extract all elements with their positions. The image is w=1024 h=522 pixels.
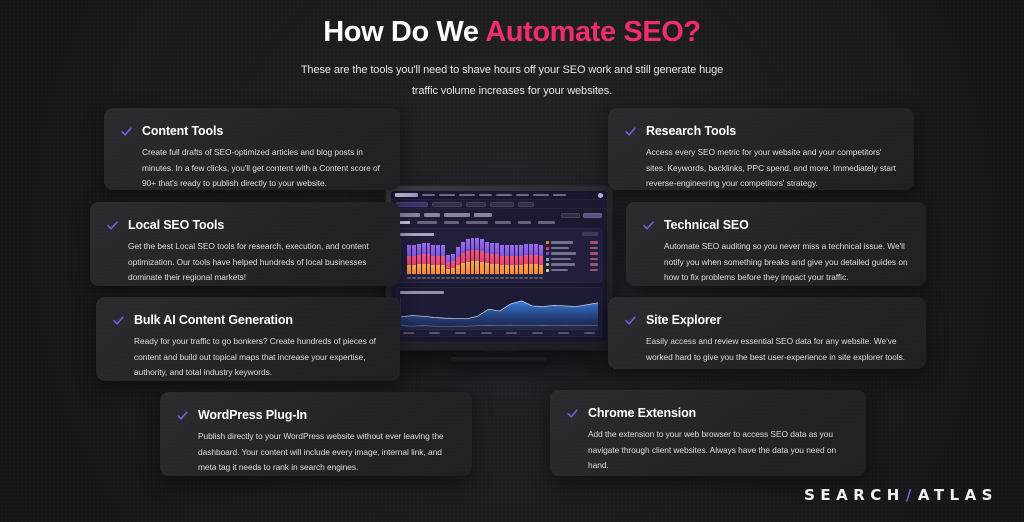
bar-segment-pink xyxy=(519,256,523,266)
bar-segment-orange xyxy=(461,263,465,274)
dashboard-nav-item[interactable] xyxy=(439,194,455,197)
bar-segment-purple xyxy=(500,245,504,256)
bar-column xyxy=(417,244,421,274)
bar-column xyxy=(427,243,431,274)
bar-segment-orange xyxy=(471,261,475,274)
bar-segment-pink xyxy=(412,256,416,266)
feature-card-research-tools: Research Tools Access every SEO metric f… xyxy=(608,108,914,190)
bar-segment-orange xyxy=(519,265,523,274)
bar-segment-orange xyxy=(417,264,421,274)
bar-x-tick xyxy=(446,277,450,279)
bar-column xyxy=(524,244,528,274)
bar-segment-pink xyxy=(500,256,504,266)
bar-column xyxy=(480,239,484,274)
chart-legend xyxy=(546,239,598,279)
dashboard-nav-item[interactable] xyxy=(422,194,435,197)
dashboard-body xyxy=(391,209,607,341)
check-icon xyxy=(176,409,189,422)
bar-x-tick xyxy=(412,277,416,279)
page-subtitle: These are the tools you'll need to shave… xyxy=(287,60,737,101)
dashboard-logo xyxy=(395,193,418,197)
bar-segment-orange xyxy=(490,264,494,274)
dashboard-tab[interactable] xyxy=(444,221,459,224)
bar-segment-purple xyxy=(539,245,543,256)
chart-legend-toggle[interactable] xyxy=(582,232,598,236)
bar-x-tick xyxy=(490,277,494,279)
bar-column xyxy=(407,245,411,274)
bar-segment-pink xyxy=(490,254,494,265)
legend-label xyxy=(551,258,571,261)
bar-column xyxy=(451,254,455,274)
bar-segment-pink xyxy=(407,256,411,266)
legend-value xyxy=(590,263,598,266)
dashboard-screen xyxy=(391,191,607,341)
bar-x-tick xyxy=(515,277,519,279)
legend-value xyxy=(590,252,598,255)
bar-segment-purple xyxy=(510,245,514,256)
bar-segment-orange xyxy=(529,264,533,274)
bar-segment-purple xyxy=(436,245,440,256)
feature-card-content-tools: Content Tools Create full drafts of SEO-… xyxy=(104,108,400,190)
bar-chart-x-axis xyxy=(400,277,543,279)
monitor-base xyxy=(451,357,547,362)
dashboard-tab[interactable] xyxy=(466,221,488,224)
legend-label xyxy=(551,263,575,266)
legend-label xyxy=(551,247,569,250)
bar-segment-pink xyxy=(534,255,538,265)
legend-value xyxy=(590,247,598,250)
bar-segment-pink xyxy=(529,255,533,265)
dashboard-filter-bar xyxy=(391,200,607,209)
bar-column xyxy=(422,243,426,274)
bar-segment-orange xyxy=(510,265,514,274)
bar-segment-orange xyxy=(505,265,509,274)
legend-swatch xyxy=(546,247,549,250)
bar-segment-orange xyxy=(431,265,435,274)
bar-segment-purple xyxy=(407,245,411,256)
bar-segment-purple xyxy=(519,245,523,256)
bar-segment-pink xyxy=(431,256,435,266)
feature-card-bulk-ai-content-generation: Bulk AI Content Generation Ready for you… xyxy=(96,297,400,381)
dashboard-metric-chips xyxy=(396,213,602,218)
bar-segment-purple xyxy=(515,245,519,256)
bar-segment-purple xyxy=(417,244,421,255)
bar-x-tick xyxy=(495,277,499,279)
dashboard-tab[interactable] xyxy=(538,221,555,224)
legend-label xyxy=(551,269,568,272)
bar-segment-pink xyxy=(427,254,431,265)
bar-segment-purple xyxy=(480,239,484,251)
bar-segment-purple xyxy=(466,239,470,251)
dashboard-project-selector[interactable] xyxy=(396,202,428,207)
bar-segment-pink xyxy=(524,255,528,265)
feature-card-title: WordPress Plug-In xyxy=(198,408,307,422)
dashboard-apply-button[interactable] xyxy=(518,202,534,207)
feature-card-chrome-extension: Chrome Extension Add the extension to yo… xyxy=(550,390,866,476)
check-icon xyxy=(120,125,133,138)
bar-segment-pink xyxy=(456,257,460,266)
check-icon xyxy=(112,314,125,327)
bar-column xyxy=(500,245,504,274)
bar-segment-pink xyxy=(441,256,445,266)
feature-card-local-seo-tools: Local SEO Tools Get the best Local SEO t… xyxy=(90,202,400,286)
dashboard-nav-item[interactable] xyxy=(496,194,512,197)
bar-chart xyxy=(400,239,543,279)
bar-column xyxy=(436,245,440,274)
dashboard-nav-item[interactable] xyxy=(459,194,475,197)
bar-segment-purple xyxy=(495,243,499,254)
dashboard-export-button[interactable] xyxy=(561,213,580,218)
bar-x-tick xyxy=(500,277,504,279)
area-chart xyxy=(400,297,598,330)
monitor-device xyxy=(386,186,612,374)
check-icon xyxy=(106,219,119,232)
dashboard-tab[interactable] xyxy=(417,221,437,224)
bar-segment-orange xyxy=(446,269,450,274)
dashboard-primary-button[interactable] xyxy=(583,213,602,218)
chart-panel-header xyxy=(400,232,598,236)
bar-x-tick xyxy=(451,277,455,279)
bar-segment-orange xyxy=(436,265,440,274)
bar-segment-pink xyxy=(515,256,519,266)
bar-column xyxy=(485,242,489,274)
dashboard-avatar[interactable] xyxy=(598,193,603,198)
brand-slash: / xyxy=(905,486,918,504)
area-fill xyxy=(401,301,598,329)
legend-value xyxy=(590,258,598,261)
area-chart-x-axis xyxy=(400,332,598,334)
bar-x-tick xyxy=(461,277,465,279)
area-chart-panel xyxy=(396,287,602,337)
stacked-bar-chart-panel xyxy=(396,228,602,283)
feature-card-title: Content Tools xyxy=(142,124,223,138)
page-header: How Do We Automate SEO? These are the to… xyxy=(0,16,1024,101)
bar-segment-orange xyxy=(539,265,543,274)
dashboard-nav-item[interactable] xyxy=(533,194,549,197)
bar-x-tick xyxy=(427,277,431,279)
feature-card-description: Get the best Local SEO tools for researc… xyxy=(128,239,382,286)
bar-column xyxy=(412,245,416,274)
x-tick xyxy=(455,332,466,334)
bar-segment-orange xyxy=(456,265,460,274)
bar-column xyxy=(466,239,470,274)
brand-name-right: ATLAS xyxy=(918,486,998,504)
bar-x-tick xyxy=(422,277,426,279)
feature-card-description: Publish directly to your WordPress websi… xyxy=(198,429,454,476)
bar-segment-purple xyxy=(451,254,455,262)
dashboard-tabs xyxy=(396,221,602,224)
bar-segment-pink xyxy=(505,256,509,266)
bar-x-tick xyxy=(480,277,484,279)
bar-column xyxy=(441,245,445,274)
bar-x-tick xyxy=(510,277,514,279)
legend-label xyxy=(551,241,573,244)
bar-segment-pink xyxy=(480,251,484,263)
area-chart-title xyxy=(400,291,444,294)
bar-segment-pink xyxy=(451,261,455,268)
x-tick xyxy=(429,332,440,334)
bar-segment-purple xyxy=(427,243,431,254)
bar-segment-pink xyxy=(495,254,499,265)
bar-column xyxy=(539,245,543,274)
feature-card-description: Create full drafts of SEO-optimized arti… xyxy=(142,145,382,190)
bar-segment-purple xyxy=(422,243,426,254)
bar-segment-pink xyxy=(510,256,514,266)
bar-segment-orange xyxy=(422,264,426,274)
bar-segment-purple xyxy=(534,244,538,255)
page-title: How Do We Automate SEO? xyxy=(0,16,1024,49)
bar-column xyxy=(446,255,450,274)
bar-column xyxy=(471,238,475,274)
legend-swatch xyxy=(546,252,549,255)
bar-segment-pink xyxy=(475,250,479,262)
x-tick xyxy=(584,332,595,334)
x-tick xyxy=(506,332,517,334)
bar-x-tick xyxy=(524,277,528,279)
bar-segment-orange xyxy=(480,262,484,274)
x-tick xyxy=(532,332,543,334)
page-title-accent: Automate SEO? xyxy=(485,16,701,48)
dashboard-tab[interactable] xyxy=(518,221,531,224)
bar-segment-pink xyxy=(539,256,543,266)
bar-segment-purple xyxy=(441,245,445,256)
page-root: How Do We Automate SEO? These are the to… xyxy=(0,0,1024,522)
legend-label xyxy=(551,252,576,255)
legend-value xyxy=(590,241,598,244)
bar-column xyxy=(490,243,494,274)
bar-segment-pink xyxy=(461,253,465,264)
bar-segment-purple xyxy=(529,244,533,255)
dashboard-date-dropdown[interactable] xyxy=(490,202,514,207)
feature-card-description: Access every SEO metric for your website… xyxy=(646,145,896,190)
dashboard-tab[interactable] xyxy=(495,221,511,224)
bar-segment-purple xyxy=(471,238,475,250)
bar-segment-purple xyxy=(431,245,435,256)
brand-logo: SEARCH/ATLAS xyxy=(804,486,998,504)
bar-column xyxy=(475,238,479,274)
bar-segment-pink xyxy=(446,262,450,269)
check-icon xyxy=(624,125,637,138)
bar-column xyxy=(461,242,465,274)
bar-segment-purple xyxy=(485,242,489,253)
feature-card-description: Ready for your traffic to go bonkers? Cr… xyxy=(134,334,382,381)
bar-x-tick xyxy=(539,277,543,279)
legend-item xyxy=(546,252,598,255)
bar-x-tick xyxy=(471,277,475,279)
x-tick xyxy=(558,332,569,334)
bar-segment-orange xyxy=(475,261,479,274)
feature-card-title: Local SEO Tools xyxy=(128,218,224,232)
bar-segment-orange xyxy=(534,264,538,274)
bar-segment-orange xyxy=(495,264,499,274)
bar-column xyxy=(510,245,514,274)
bar-segment-pink xyxy=(471,250,475,262)
dashboard-metric-chip[interactable] xyxy=(424,213,440,217)
area-chart-svg xyxy=(401,297,598,329)
bar-column xyxy=(534,244,538,274)
bar-x-tick xyxy=(485,277,489,279)
bar-segment-orange xyxy=(524,264,528,274)
feature-card-site-explorer: Site Explorer Easily access and review e… xyxy=(608,297,926,369)
dashboard-filter-dropdown[interactable] xyxy=(466,202,486,207)
dashboard-actions xyxy=(561,213,602,218)
dashboard-nav-item[interactable] xyxy=(516,194,529,197)
legend-value xyxy=(590,269,598,272)
bar-x-tick xyxy=(417,277,421,279)
chart-body xyxy=(400,239,598,279)
dashboard-nav-item[interactable] xyxy=(479,194,492,197)
bar-segment-orange xyxy=(427,264,431,274)
legend-swatch xyxy=(546,269,549,272)
bar-segment-purple xyxy=(446,255,450,263)
feature-card-description: Automate SEO auditing so you never miss … xyxy=(664,239,908,286)
legend-item xyxy=(546,263,598,266)
dashboard-topbar xyxy=(391,191,607,200)
bar-x-tick xyxy=(475,277,479,279)
feature-card-title: Site Explorer xyxy=(646,313,721,327)
chart-title xyxy=(400,233,434,236)
bar-x-tick xyxy=(529,277,533,279)
dashboard-metric-chip[interactable] xyxy=(444,213,470,217)
bar-column xyxy=(515,245,519,274)
feature-card-title: Chrome Extension xyxy=(588,406,696,420)
legend-item xyxy=(546,247,598,250)
page-title-plain: How Do We xyxy=(323,16,485,48)
check-icon xyxy=(566,407,579,420)
legend-swatch xyxy=(546,263,549,266)
feature-card-technical-seo: Technical SEO Automate SEO auditing so y… xyxy=(626,202,926,286)
feature-card-title: Bulk AI Content Generation xyxy=(134,313,293,327)
dashboard-nav-item[interactable] xyxy=(553,194,566,197)
bar-segment-purple xyxy=(412,245,416,256)
bar-x-tick xyxy=(534,277,538,279)
bar-segment-orange xyxy=(407,265,411,274)
legend-item xyxy=(546,258,598,261)
bar-segment-orange xyxy=(500,265,504,274)
bar-column xyxy=(456,247,460,274)
feature-card-title: Technical SEO xyxy=(664,218,749,232)
bar-segment-pink xyxy=(485,253,489,264)
feature-card-wordpress-plug-in: WordPress Plug-In Publish directly to yo… xyxy=(160,392,472,476)
bar-segment-orange xyxy=(441,265,445,274)
legend-item xyxy=(546,269,598,272)
bar-x-tick xyxy=(456,277,460,279)
bar-x-tick xyxy=(407,277,411,279)
bar-segment-purple xyxy=(524,244,528,255)
check-icon xyxy=(624,314,637,327)
bar-segment-purple xyxy=(490,243,494,254)
bar-segment-pink xyxy=(436,256,440,266)
bar-segment-pink xyxy=(466,251,470,263)
bar-x-tick xyxy=(466,277,470,279)
legend-swatch xyxy=(546,241,549,244)
bar-segment-pink xyxy=(422,254,426,265)
check-icon xyxy=(642,219,655,232)
feature-card-title: Research Tools xyxy=(646,124,736,138)
legend-item xyxy=(546,241,598,244)
dashboard-filter-input[interactable] xyxy=(432,202,462,207)
bar-series-container xyxy=(400,239,543,275)
monitor-frame xyxy=(386,186,612,350)
bar-x-tick xyxy=(431,277,435,279)
brand-name-left: SEARCH xyxy=(804,486,905,504)
bar-column xyxy=(495,243,499,274)
legend-swatch xyxy=(546,258,549,261)
bar-x-tick xyxy=(519,277,523,279)
bar-segment-orange xyxy=(466,262,470,274)
bar-segment-orange xyxy=(515,265,519,274)
feature-card-description: Add the extension to your web browser to… xyxy=(588,427,848,474)
bar-segment-orange xyxy=(412,265,416,274)
x-tick xyxy=(481,332,492,334)
bar-segment-orange xyxy=(451,268,455,274)
bar-segment-purple xyxy=(475,238,479,250)
bar-segment-purple xyxy=(461,242,465,253)
bar-segment-purple xyxy=(505,245,509,256)
bar-segment-orange xyxy=(485,263,489,274)
bar-segment-purple xyxy=(456,247,460,257)
bar-column xyxy=(519,245,523,274)
bar-x-tick xyxy=(505,277,509,279)
feature-card-description: Easily access and review essential SEO d… xyxy=(646,334,908,365)
bar-x-tick xyxy=(441,277,445,279)
bar-column xyxy=(505,245,509,274)
bar-segment-pink xyxy=(417,255,421,265)
dashboard-metric-chip[interactable] xyxy=(474,213,492,217)
bar-x-tick xyxy=(436,277,440,279)
bar-column xyxy=(431,245,435,274)
x-tick xyxy=(403,332,414,334)
bar-column xyxy=(529,244,533,274)
